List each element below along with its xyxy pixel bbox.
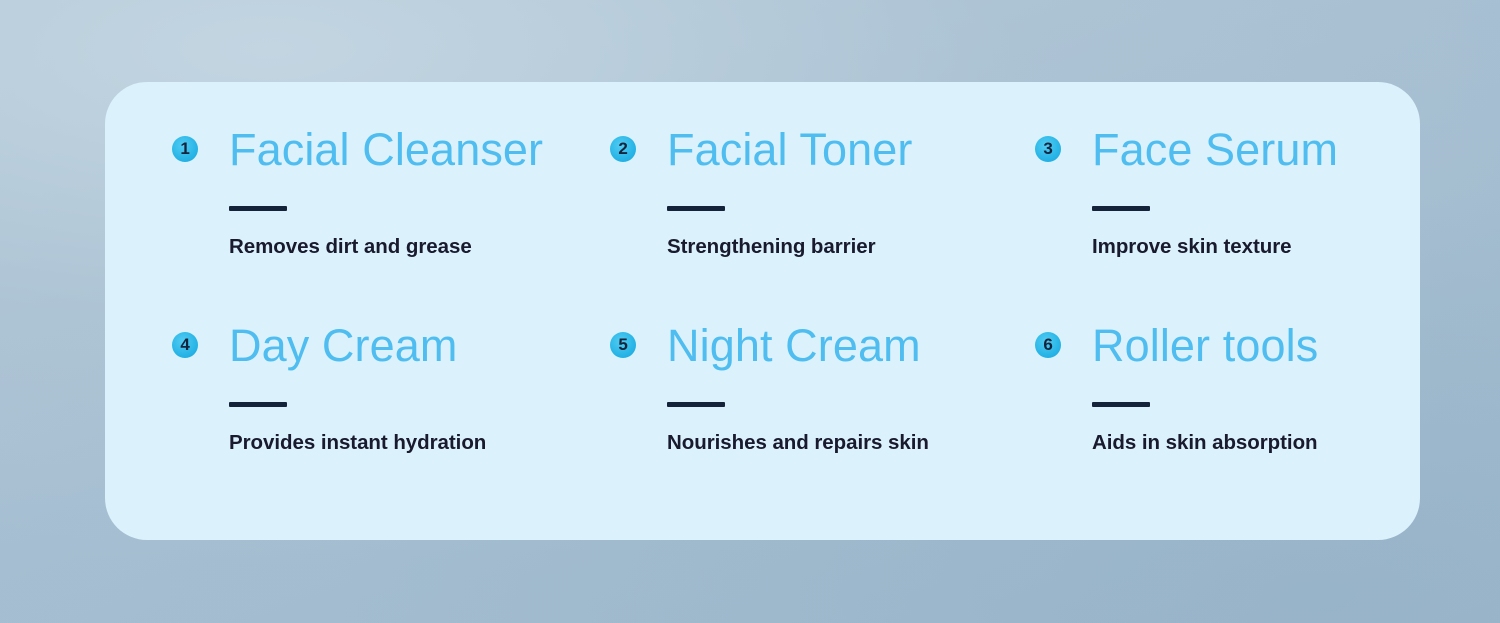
step-header-1: 1 Facial Cleanser — [172, 118, 610, 180]
step-divider-4 — [229, 402, 287, 407]
step-title-2: Facial Toner — [667, 127, 913, 172]
step-description-6: Aids in skin absorption — [1092, 433, 1487, 454]
step-item-1: 1 Facial Cleanser Removes dirt and greas… — [172, 118, 610, 314]
step-header-2: 2 Facial Toner — [610, 118, 1035, 180]
step-header-5: 5 Night Cream — [610, 314, 1035, 376]
step-title-5: Night Cream — [667, 323, 921, 368]
step-number-badge-3: 3 — [1035, 136, 1061, 162]
step-title-1: Facial Cleanser — [229, 127, 543, 172]
step-header-3: 3 Face Serum — [1035, 118, 1487, 180]
step-number-badge-2: 2 — [610, 136, 636, 162]
step-item-5: 5 Night Cream Nourishes and repairs skin — [610, 314, 1035, 510]
step-title-6: Roller tools — [1092, 323, 1318, 368]
step-divider-3 — [1092, 206, 1150, 211]
step-description-2: Strengthening barrier — [667, 237, 1035, 258]
step-item-4: 4 Day Cream Provides instant hydration — [172, 314, 610, 510]
skincare-steps-card: 1 Facial Cleanser Removes dirt and greas… — [105, 82, 1420, 540]
steps-grid: 1 Facial Cleanser Removes dirt and greas… — [105, 82, 1420, 540]
step-number-badge-4: 4 — [172, 332, 198, 358]
step-header-6: 6 Roller tools — [1035, 314, 1487, 376]
step-item-6: 6 Roller tools Aids in skin absorption — [1035, 314, 1487, 510]
step-description-5: Nourishes and repairs skin — [667, 433, 1035, 454]
step-description-4: Provides instant hydration — [229, 433, 610, 454]
step-item-3: 3 Face Serum Improve skin texture — [1035, 118, 1487, 314]
step-item-2: 2 Facial Toner Strengthening barrier — [610, 118, 1035, 314]
step-divider-1 — [229, 206, 287, 211]
step-divider-2 — [667, 206, 725, 211]
step-title-4: Day Cream — [229, 323, 457, 368]
step-description-3: Improve skin texture — [1092, 237, 1487, 258]
step-number-badge-6: 6 — [1035, 332, 1061, 358]
step-number-badge-5: 5 — [610, 332, 636, 358]
step-title-3: Face Serum — [1092, 127, 1338, 172]
step-header-4: 4 Day Cream — [172, 314, 610, 376]
step-divider-6 — [1092, 402, 1150, 407]
step-divider-5 — [667, 402, 725, 407]
step-number-badge-1: 1 — [172, 136, 198, 162]
step-description-1: Removes dirt and grease — [229, 237, 610, 258]
